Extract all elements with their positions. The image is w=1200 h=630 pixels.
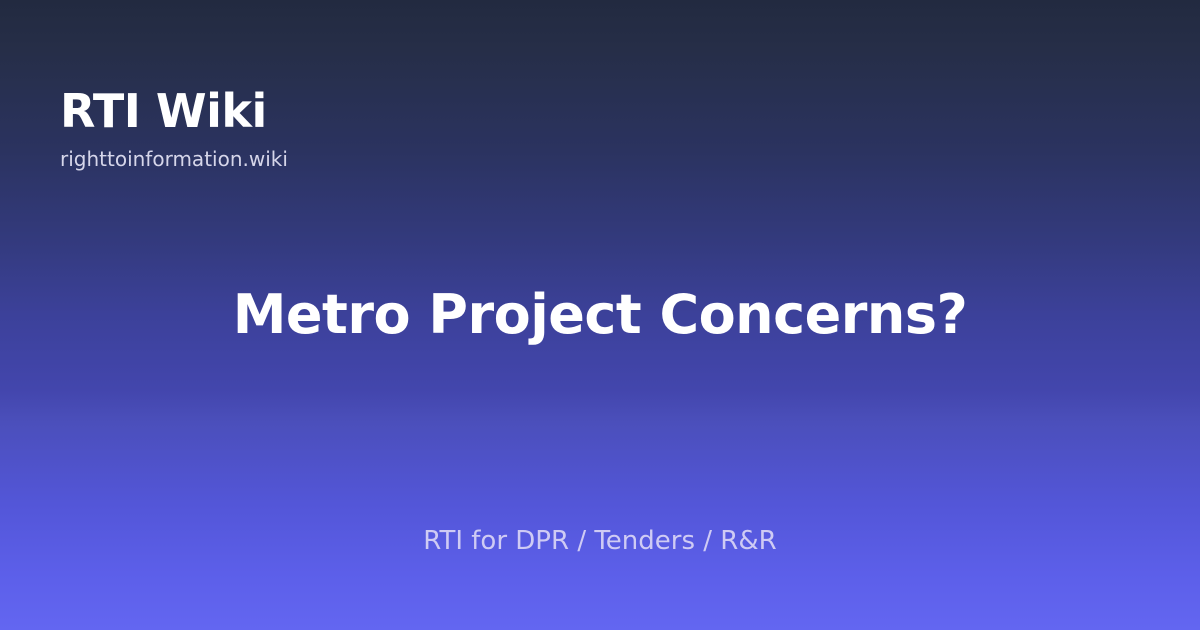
page-title: Metro Project Concerns? — [80, 276, 1120, 354]
brand-block: RTI Wiki righttoinformation.wiki — [60, 84, 288, 172]
brand-name: RTI Wiki — [60, 84, 288, 138]
footer-tagline: RTI for DPR / Tenders / R&R — [80, 524, 1120, 558]
brand-domain: righttoinformation.wiki — [60, 138, 288, 172]
headline-block: Metro Project Concerns? — [0, 276, 1200, 354]
footer-block: RTI for DPR / Tenders / R&R — [0, 524, 1200, 558]
social-share-card: RTI Wiki righttoinformation.wiki Metro P… — [0, 0, 1200, 630]
